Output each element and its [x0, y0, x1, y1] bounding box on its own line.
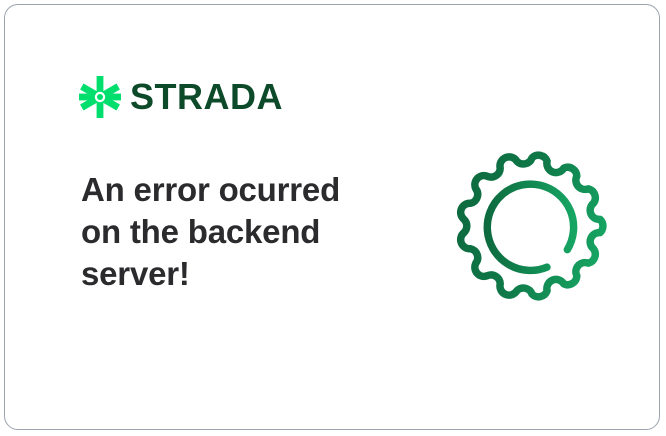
gear-inner-broken-circle [487, 184, 573, 270]
broken-gear-icon [449, 143, 615, 309]
strada-asterisk-icon [79, 76, 121, 118]
error-headline: An error ocurred on the backend server! [81, 169, 381, 295]
gear-outer-ring [461, 155, 603, 297]
brand-logo: STRADA [79, 73, 283, 121]
error-card: STRADA An error ocurred on the backend s… [4, 4, 660, 430]
brand-wordmark: STRADA [130, 79, 283, 115]
